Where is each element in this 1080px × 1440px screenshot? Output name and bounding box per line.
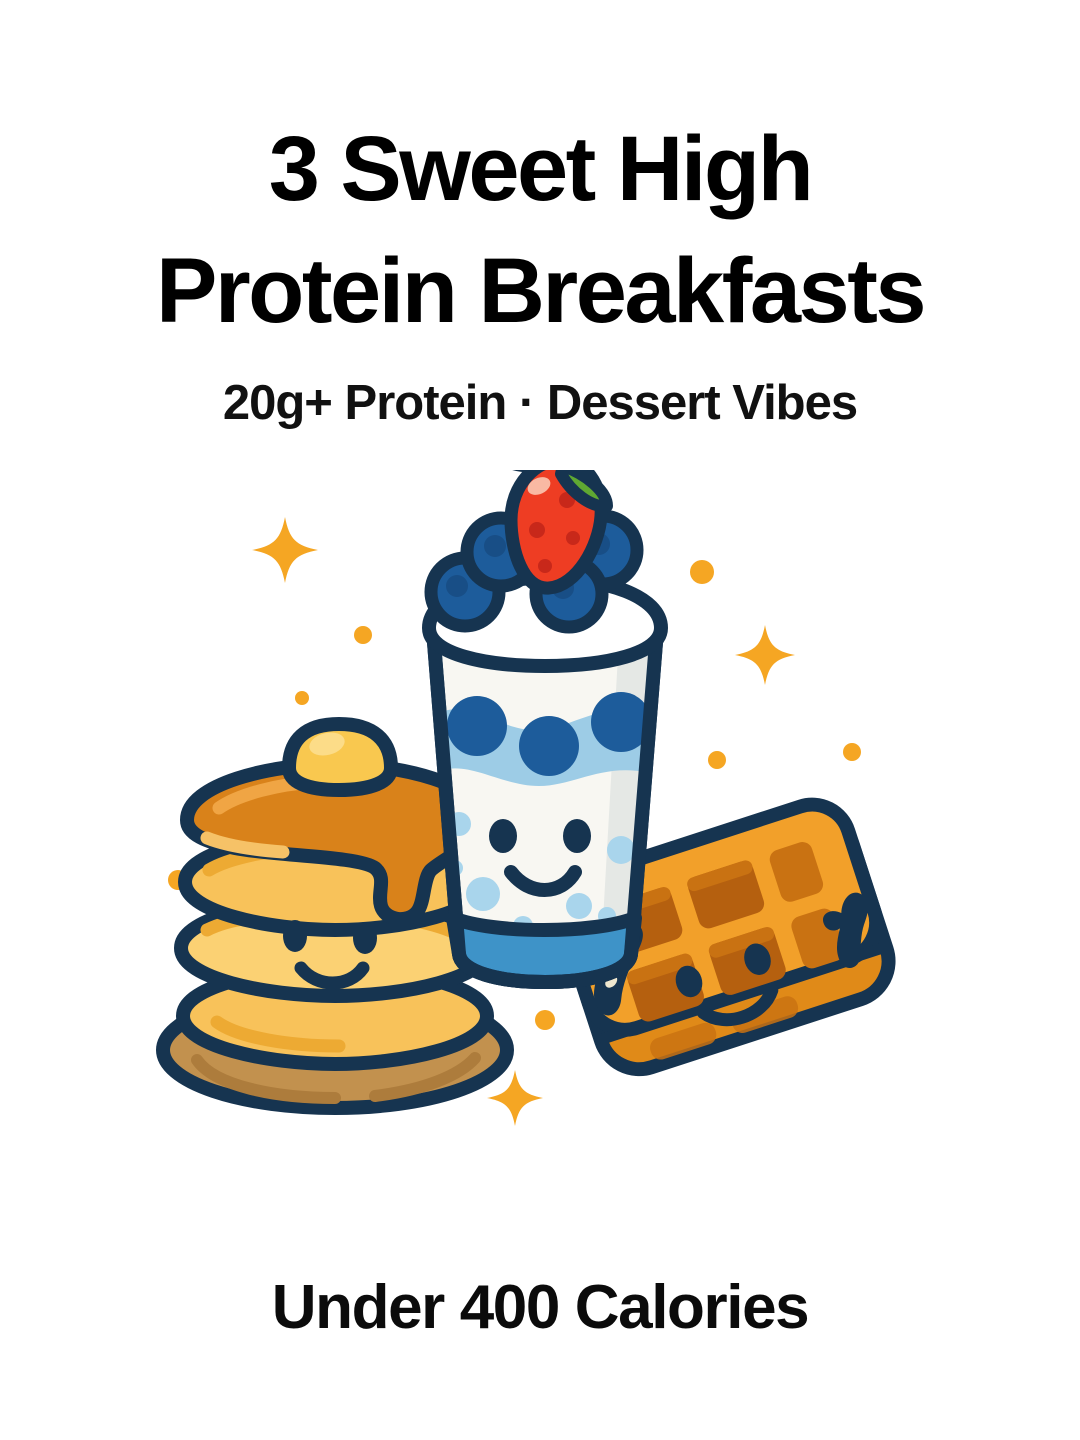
parfait-topping-berries	[431, 470, 637, 627]
page-title-line-2: Protein Breakfasts	[0, 230, 1080, 352]
breakfast-trio-illustration	[90, 470, 990, 1170]
headline-block: 3 Sweet High Protein Breakfasts 20g+ Pro…	[0, 108, 1080, 431]
poster-canvas: 3 Sweet High Protein Breakfasts 20g+ Pro…	[0, 0, 1080, 1440]
page-title-line-1: 3 Sweet High	[0, 108, 1080, 230]
page-subtitle: 20g+ Protein · Dessert Vibes	[0, 375, 1080, 431]
sparkle-icon-top-right	[735, 625, 795, 685]
butter-pat	[289, 724, 391, 790]
yogurt-parfait-illustration	[429, 470, 661, 982]
footer-callout: Under 400 Calories	[0, 1272, 1080, 1343]
sparkle-icon-top-left	[252, 517, 318, 583]
